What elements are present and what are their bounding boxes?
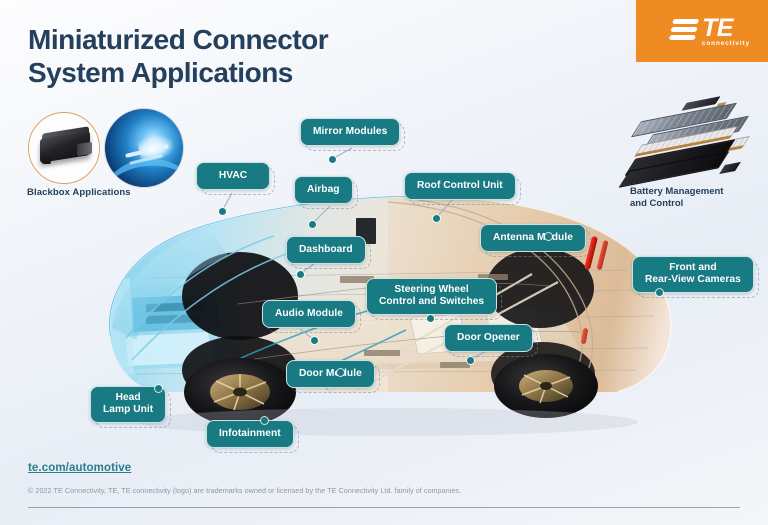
callout-label[interactable]: Mirror Modules xyxy=(300,118,400,146)
callout-label[interactable]: HVAC xyxy=(196,162,270,190)
callout-steering-wheel-control-and-switches[interactable]: Steering Wheel Control and Switches xyxy=(366,278,497,315)
callout-dot-door-module xyxy=(337,369,344,376)
te-tagline: connectivity xyxy=(702,40,750,47)
callout-label[interactable]: Dashboard xyxy=(286,236,366,264)
callout-dot-roof-control-unit xyxy=(433,215,440,222)
website-link[interactable]: te.com/automotive xyxy=(28,462,131,474)
callout-dashboard[interactable]: Dashboard xyxy=(286,236,366,264)
callout-audio-module[interactable]: Audio Module xyxy=(262,300,356,328)
callout-roof-control-unit[interactable]: Roof Control Unit xyxy=(404,172,516,200)
callout-infotainment[interactable]: Infotainment xyxy=(206,420,294,448)
battery-pack-exploded-icon xyxy=(622,100,750,180)
callout-hvac[interactable]: HVAC xyxy=(196,162,270,190)
callout-label[interactable]: Head Lamp Unit xyxy=(90,386,166,423)
callout-dot-hvac xyxy=(219,208,226,215)
te-wordmark: TE xyxy=(702,18,733,39)
callout-label[interactable]: Airbag xyxy=(294,176,353,204)
callout-dot-audio-module xyxy=(311,337,318,344)
infographic-canvas: Miniaturized Connector System Applicatio… xyxy=(0,0,768,525)
callout-dot-airbag xyxy=(309,221,316,228)
callout-dot-dashboard xyxy=(297,271,304,278)
callout-door-opener[interactable]: Door Opener xyxy=(444,324,533,352)
page-title: Miniaturized Connector System Applicatio… xyxy=(28,24,328,90)
callout-dot-antenna-module xyxy=(545,233,552,240)
callout-label[interactable]: Antenna Module xyxy=(480,224,586,252)
callout-dot-mirror-modules xyxy=(329,156,336,163)
callout-head-lamp-unit[interactable]: Head Lamp Unit xyxy=(90,386,166,423)
te-bars-icon xyxy=(669,19,699,40)
callout-label[interactable]: Audio Module xyxy=(262,300,356,328)
callout-label[interactable]: Front and Rear-View Cameras xyxy=(632,256,754,293)
callout-label[interactable]: Door Opener xyxy=(444,324,533,352)
callout-airbag[interactable]: Airbag xyxy=(294,176,353,204)
callout-label[interactable]: Roof Control Unit xyxy=(404,172,516,200)
callout-dot-door-opener xyxy=(467,357,474,364)
callout-door-module[interactable]: Door Module xyxy=(286,360,375,388)
callout-mirror-modules[interactable]: Mirror Modules xyxy=(300,118,400,146)
te-logo: TE connectivity xyxy=(636,0,768,62)
callout-antenna-module[interactable]: Antenna Module xyxy=(480,224,586,252)
callout-label[interactable]: Infotainment xyxy=(206,420,294,448)
blackbox-module-icon xyxy=(28,112,100,184)
callout-dot-front-rear-view-cameras xyxy=(656,289,663,296)
callout-front-rear-view-cameras[interactable]: Front and Rear-View Cameras xyxy=(632,256,754,293)
legal-text: © 2022 TE Connectivity, TE, TE connectiv… xyxy=(28,486,461,495)
headlight-photo-icon xyxy=(104,108,184,188)
callout-dot-head-lamp-unit xyxy=(155,385,162,392)
callout-label[interactable]: Steering Wheel Control and Switches xyxy=(366,278,497,315)
callout-dot-steering-wheel xyxy=(427,315,434,322)
callout-dot-infotainment xyxy=(261,417,268,424)
callout-label[interactable]: Door Module xyxy=(286,360,375,388)
footer-divider xyxy=(28,507,740,508)
